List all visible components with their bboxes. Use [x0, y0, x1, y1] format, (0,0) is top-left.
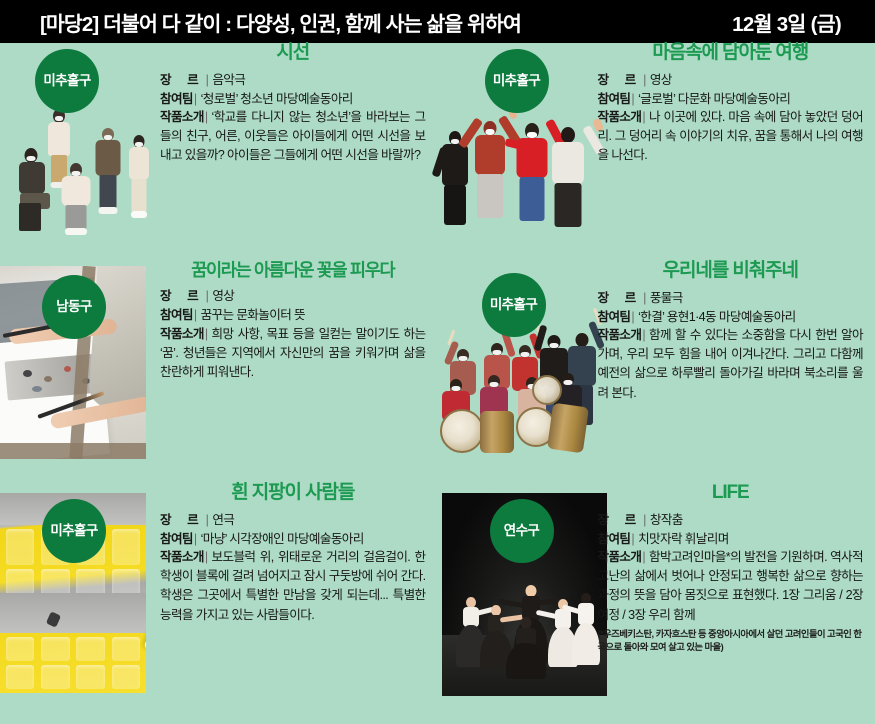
person-figure	[60, 163, 92, 237]
program-row-3: 미추홀구 흰 지팡이 사람들 장 르 | 연극 참여팀 | ‘마냥’	[0, 483, 875, 724]
person-figure	[17, 148, 59, 233]
program-title: 시선	[160, 43, 426, 64]
genre-label: 장 르	[598, 71, 643, 90]
team-row: 참여팀 | ‘한결’ 용현1·4동 마당예술동아리	[598, 308, 864, 327]
district-badge: 미추홀구	[482, 273, 546, 337]
genre-label: 장 르	[598, 289, 643, 308]
team-row: 참여팀 | 꿈꾸는 문화놀이터 뜻	[160, 306, 426, 325]
person-figure	[128, 135, 150, 221]
genre-row: 장 르 | 영상	[598, 71, 864, 90]
team-label: 참여팀	[598, 308, 631, 327]
drum	[532, 375, 562, 405]
team-label: 참여팀	[598, 530, 631, 549]
separator: |	[205, 71, 213, 90]
separator: |	[630, 530, 638, 549]
team-value: ‘마냥’ 시각장애인 마당예술동아리	[201, 530, 426, 549]
program-card-6: 연수구 LIFE 장 르 | 창작춤 참여팀 | 치맛자락 휘날리며	[438, 483, 875, 724]
separator: |	[642, 511, 650, 530]
separator: |	[641, 110, 649, 124]
program-title: 흰 지팡이 사람들	[160, 483, 426, 504]
team-value: ‘한결’ 용현1·4동 마당예술동아리	[638, 308, 863, 327]
genre-row: 장 르 | 음악극	[160, 71, 426, 90]
genre-row: 장 르 | 풍물극	[598, 289, 864, 308]
separator: |	[641, 550, 649, 564]
description-label: 작품소개	[160, 550, 204, 564]
description-row: 작품소개|함박고려인마을*의 발전을 기원하며. 역사적 고난의 삶에서 벗어나…	[598, 548, 864, 625]
person-figure	[468, 109, 512, 229]
program-card-4: 미추홀구	[438, 261, 875, 483]
team-row: 참여팀 | ‘청로벌’ 청소년 마당예술동아리	[160, 90, 426, 109]
genre-value: 풍물극	[650, 289, 863, 308]
program-image-2: 미추홀구	[438, 43, 598, 261]
district-badge: 남동구	[42, 275, 106, 339]
page-title: [마당2] 더불어 다 같이 : 다양성, 인권, 함께 사는 삶을 위하여	[40, 7, 521, 37]
team-row: 참여팀 | 치맛자락 휘날리며	[598, 530, 864, 549]
person-figure	[546, 121, 590, 233]
team-label: 참여팀	[160, 306, 193, 325]
program-title: 꿈이라는 아름다운 꽃을 피우다	[160, 261, 426, 280]
program-meta: 장 르 | 풍물극 참여팀 | ‘한결’ 용현1·4동 마당예술동아리 작품소개…	[598, 289, 864, 403]
program-image-3: 남동구	[0, 261, 160, 483]
program-text-2: 마음속에 담아둔 여행 장 르 | 영상 참여팀 | ‘글로벌’ 다문화 마당예…	[598, 43, 875, 261]
program-text-5: 흰 지팡이 사람들 장 르 | 연극 참여팀 | ‘마냥’ 시각장애인 마당예술…	[160, 483, 438, 724]
program-row-2: 남동구 꿈이라는 아름다운 꽃을 피우다 장 르 | 영상 참여팀 |	[0, 261, 875, 483]
district-badge: 미추홀구	[35, 49, 99, 113]
description-row: 작품소개|‘학교를 다니지 않는 청소년’을 바라보는 그들의 친구, 어른, …	[160, 108, 426, 165]
separator: |	[641, 328, 649, 342]
genre-label: 장 르	[598, 511, 643, 530]
description-label: 작품소개	[160, 110, 204, 124]
dancer-figure	[504, 617, 548, 679]
person-figure	[94, 128, 122, 216]
program-image-5: 미추홀구	[0, 483, 160, 724]
program-row-1: 미추홀구	[0, 43, 875, 261]
program-footnote: (*우즈베키스탄, 카자흐스탄 등 중앙아시아에서 살던 고려인들이 고국인 한…	[598, 628, 864, 654]
program-meta: 장 르 | 음악극 참여팀 | ‘청로벌’ 청소년 마당예술동아리 작품소개|‘…	[160, 71, 426, 166]
program-text-1: 시선 장 르 | 음악극 참여팀 | ‘청로벌’ 청소년 마당예술동아리 작	[160, 43, 438, 261]
genre-label: 장 르	[160, 511, 205, 530]
program-meta: 장 르 | 영상 참여팀 | 꿈꾸는 문화놀이터 뜻 작품소개|희망 사항, 목…	[160, 287, 426, 382]
district-badge: 미추홀구	[42, 499, 106, 563]
program-image-6: 연수구	[438, 483, 598, 724]
program-card-5: 미추홀구 흰 지팡이 사람들 장 르 | 연극 참여팀 | ‘마냥’	[0, 483, 438, 724]
description-label: 작품소개	[598, 328, 642, 342]
team-value: ‘청로벌’ 청소년 마당예술동아리	[201, 90, 426, 109]
separator: |	[193, 530, 201, 549]
separator: |	[205, 511, 213, 530]
separator: |	[204, 550, 212, 564]
drum	[546, 403, 588, 454]
separator: |	[642, 71, 650, 90]
team-row: 참여팀 | ‘글로벌’ 다문화 마당예술동아리	[598, 90, 864, 109]
drum	[480, 411, 514, 453]
genre-label: 장 르	[160, 71, 205, 90]
team-label: 참여팀	[598, 90, 631, 109]
separator: |	[630, 90, 638, 109]
program-meta: 장 르 | 영상 참여팀 | ‘글로벌’ 다문화 마당예술동아리 작품소개|나 …	[598, 71, 864, 166]
team-label: 참여팀	[160, 530, 193, 549]
program-image-4: 미추홀구	[438, 261, 598, 483]
team-row: 참여팀 | ‘마냥’ 시각장애인 마당예술동아리	[160, 530, 426, 549]
genre-row: 장 르 | 연극	[160, 511, 426, 530]
separator: |	[204, 327, 212, 341]
program-card-3: 남동구 꿈이라는 아름다운 꽃을 피우다 장 르 | 영상 참여팀 |	[0, 261, 438, 483]
program-title: 마음속에 담아둔 여행	[598, 43, 864, 64]
program-text-3: 꿈이라는 아름다운 꽃을 피우다 장 르 | 영상 참여팀 | 꿈꾸는 문화놀이…	[160, 261, 438, 483]
program-meta: 장 르 | 연극 참여팀 | ‘마냥’ 시각장애인 마당예술동아리 작품소개|보…	[160, 511, 426, 625]
genre-value: 영상	[212, 287, 425, 306]
header-date: 12월 3일 (금)	[732, 7, 841, 37]
program-image-1: 미추홀구	[0, 43, 160, 261]
description-label: 작품소개	[598, 550, 642, 564]
description-label: 작품소개	[160, 327, 204, 341]
genre-value: 음악극	[212, 71, 425, 90]
genre-value: 영상	[650, 71, 863, 90]
program-title: 우리네를 비춰주네	[598, 261, 864, 282]
team-value: ‘글로벌’ 다문화 마당예술동아리	[638, 90, 863, 109]
separator: |	[205, 287, 213, 306]
description-row: 작품소개|함께 할 수 있다는 소중함을 다시 한번 알아가며, 우리 모두 힘…	[598, 326, 864, 403]
genre-row: 장 르 | 영상	[160, 287, 426, 306]
description-row: 작품소개|희망 사항, 목표 등을 일컫는 말이기도 하는 ‘꿈’. 청년들은 …	[160, 325, 426, 382]
genre-label: 장 르	[160, 287, 205, 306]
poster-header: [마당2] 더불어 다 같이 : 다양성, 인권, 함께 사는 삶을 위하여 1…	[0, 0, 875, 43]
program-title: LIFE	[598, 483, 864, 504]
separator: |	[642, 289, 650, 308]
team-value: 치맛자락 휘날리며	[638, 530, 863, 549]
separator: |	[193, 90, 201, 109]
program-text-4: 우리네를 비춰주네 장 르 | 풍물극 참여팀 | ‘한결’ 용현1·4동 마당…	[598, 261, 875, 483]
genre-value: 연극	[212, 511, 425, 530]
description-row: 작품소개|보도블럭 위, 위태로운 거리의 걸음걸이. 한 학생이 블록에 걸려…	[160, 548, 426, 625]
poster-page: [마당2] 더불어 다 같이 : 다양성, 인권, 함께 사는 삶을 위하여 1…	[0, 0, 875, 724]
genre-row: 장 르 | 창작춤	[598, 511, 864, 530]
team-value: 꿈꾸는 문화놀이터 뜻	[201, 306, 426, 325]
program-card-1: 미추홀구	[0, 43, 438, 261]
separator: |	[630, 308, 638, 327]
genre-value: 창작춤	[650, 511, 863, 530]
program-card-2: 미추홀구	[438, 43, 875, 261]
separator: |	[204, 110, 212, 124]
team-label: 참여팀	[160, 90, 193, 109]
description-row: 작품소개|나 이곳에 있다. 마음 속에 담아 놓았던 덩어리. 그 덩어리 속…	[598, 108, 864, 165]
program-grid: 미추홀구	[0, 43, 875, 724]
separator: |	[193, 306, 201, 325]
program-text-6: LIFE 장 르 | 창작춤 참여팀 | 치맛자락 휘날리며 작품소개|함박	[598, 483, 875, 724]
district-badge: 연수구	[490, 499, 554, 563]
program-meta: 장 르 | 창작춤 참여팀 | 치맛자락 휘날리며 작품소개|함박고려인마을*의…	[598, 511, 864, 653]
district-badge: 미추홀구	[485, 49, 549, 113]
description-label: 작품소개	[598, 110, 642, 124]
